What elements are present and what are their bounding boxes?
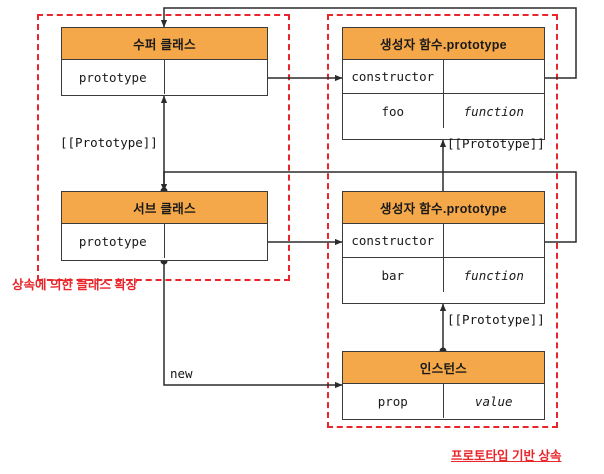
super-prototype-row-0-key: constructor (343, 60, 444, 93)
box-sub-prototype[interactable]: 생성자 함수.prototype constructor bar functio… (342, 191, 545, 304)
edge-label-prototype-left: [[Prototype]] (60, 135, 158, 150)
box-instance-header: 인스턴스 (343, 352, 544, 384)
sub-class-row-key: prototype (62, 224, 165, 258)
table-row: bar function (343, 258, 544, 292)
box-sub-class-header: 서브 클래스 (62, 192, 267, 224)
table-row: prototype (62, 224, 267, 258)
box-super-prototype-header: 생성자 함수.prototype (343, 28, 544, 60)
diagram-canvas: 수퍼 클래스 prototype 서브 클래스 prototype 생성자 함수… (0, 0, 604, 474)
super-prototype-row-0-value (444, 60, 545, 93)
region-label-class-extension: 상속에 의한 클래스 확장 (12, 274, 137, 293)
box-super-class-header: 수퍼 클래스 (62, 28, 267, 60)
table-row: prop value (343, 384, 544, 418)
super-class-row-key: prototype (62, 60, 165, 94)
table-row: constructor (343, 224, 544, 258)
table-row: prototype (62, 60, 267, 94)
instance-row-value: value (444, 384, 545, 418)
box-super-prototype[interactable]: 생성자 함수.prototype constructor foo functio… (342, 27, 545, 140)
sub-prototype-row-1-key: bar (343, 258, 444, 292)
table-row: foo function (343, 94, 544, 128)
box-instance[interactable]: 인스턴스 prop value (342, 351, 545, 420)
sub-prototype-row-1-value: function (444, 258, 545, 292)
box-sub-prototype-header: 생성자 함수.prototype (343, 192, 544, 224)
edge-label-new: new (168, 366, 195, 381)
super-prototype-row-1-value: function (444, 94, 545, 128)
table-row: constructor (343, 60, 544, 94)
super-class-row-value (165, 60, 268, 94)
super-prototype-row-1-key: foo (343, 94, 444, 128)
region-label-prototype-inheritance: 프로토타입 기반 상속 (451, 445, 561, 464)
box-super-class[interactable]: 수퍼 클래스 prototype (61, 27, 268, 96)
edge-label-prototype-right-bottom: [[Prototype]] (447, 312, 545, 327)
box-sub-class[interactable]: 서브 클래스 prototype (61, 191, 268, 261)
sub-prototype-row-0-value (444, 224, 545, 257)
sub-class-row-value (165, 224, 268, 258)
instance-row-key: prop (343, 384, 444, 418)
edge-label-prototype-right-top: [[Prototype]] (447, 136, 545, 151)
sub-prototype-row-0-key: constructor (343, 224, 444, 257)
